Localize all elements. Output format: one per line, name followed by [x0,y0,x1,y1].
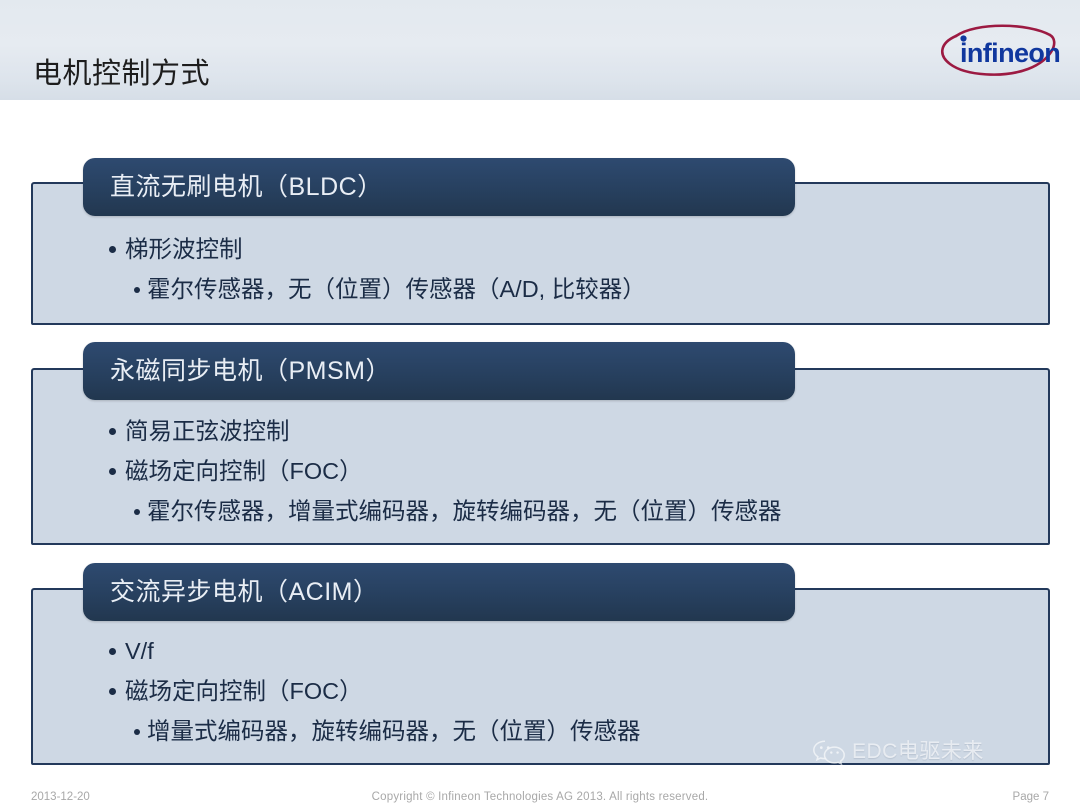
bullet-item: 霍尔传感器，无（位置）传感器（A/D, 比较器） [31,269,134,309]
bullet-dot-icon [134,729,140,735]
section-header-acim[interactable]: 交流异步电机（ACIM） [83,563,795,621]
bullet-dot-icon [109,648,116,655]
section-header-label-pmsm: 永磁同步电机（PMSM） [83,356,391,386]
footer-page-number: Page 7 [1013,790,1049,805]
page-title: 电机控制方式 [33,57,210,91]
infineon-logo: infineon [932,24,1062,80]
bullet-dot-icon [134,509,140,515]
bullet-dot-icon [109,246,116,253]
bullet-text: 霍尔传感器，无（位置）传感器（A/D, 比较器） [147,269,646,309]
bullet-item: 简易正弦波控制 [31,411,109,451]
section-header-bldc[interactable]: 直流无刷电机（BLDC） [83,158,795,216]
slide-footer: 2013-12-20 Copyright © Infineon Technolo… [0,787,1080,810]
bullet-item: 增量式编码器，旋转编码器，无（位置）传感器 [31,711,134,751]
bullet-text: 磁场定向控制（FOC） [125,671,363,711]
slide-header-band: 电机控制方式 infineon [0,0,1080,101]
bullet-dot-icon [109,468,116,475]
bullet-text: 霍尔传感器，增量式编码器，旋转编码器，无（位置）传感器 [147,491,782,531]
bullet-dot-icon [109,428,116,435]
bullet-text: V/f [125,631,154,671]
slide-canvas: 电机控制方式 infineon 直流无刷电机（BLDC） 梯形波控制 [0,0,1080,810]
bullet-item: 磁场定向控制（FOC） [31,671,109,711]
bullet-text: 梯形波控制 [125,229,243,269]
section-header-pmsm[interactable]: 永磁同步电机（PMSM） [83,342,795,400]
bullet-item: 霍尔传感器，增量式编码器，旋转编码器，无（位置）传感器 [31,491,134,531]
bullet-text: 简易正弦波控制 [125,411,290,451]
bullet-item: V/f [31,631,109,671]
section-header-label-bldc: 直流无刷电机（BLDC） [83,172,383,202]
bullet-text: 增量式编码器，旋转编码器，无（位置）传感器 [147,711,641,751]
footer-copyright: Copyright © Infineon Technologies AG 201… [0,790,1080,805]
bullet-dot-icon [134,287,140,293]
bullet-item: 磁场定向控制（FOC） [31,451,109,491]
svg-text:infineon: infineon [960,38,1060,68]
bullet-text: 磁场定向控制（FOC） [125,451,363,491]
bullet-dot-icon [109,688,116,695]
section-header-label-acim: 交流异步电机（ACIM） [83,577,379,607]
bullet-item: 梯形波控制 [31,229,109,269]
